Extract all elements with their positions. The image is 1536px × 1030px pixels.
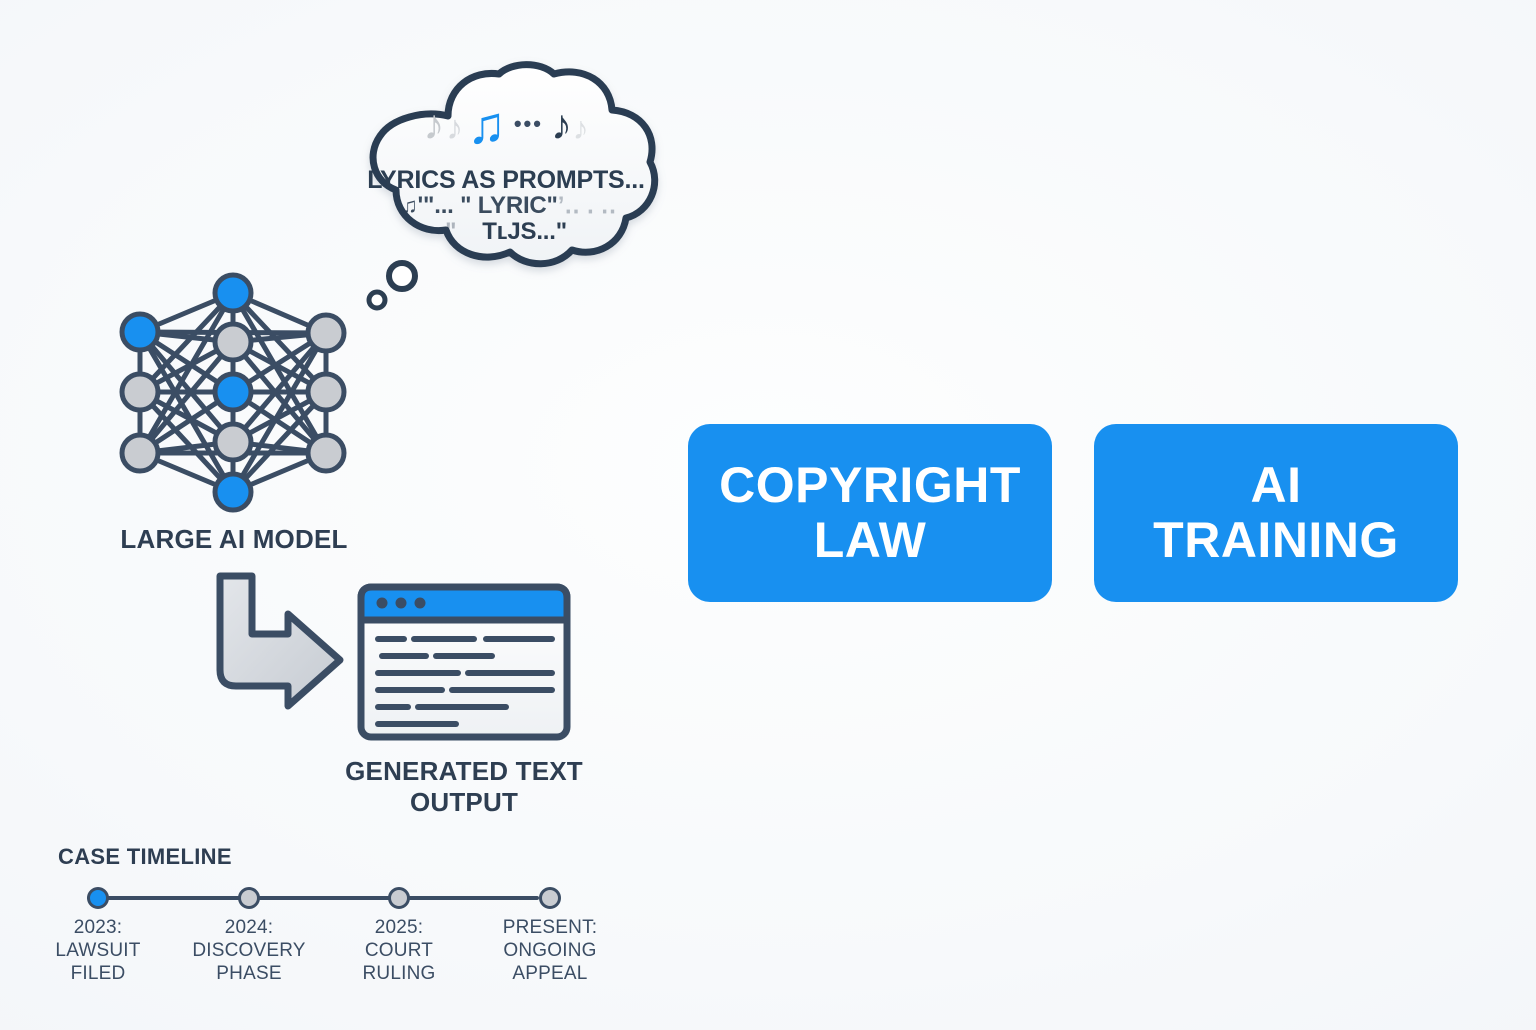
music-note-beamed-icon: ♫ (467, 97, 506, 155)
timeline-label-present-l2: ONGOING (480, 939, 620, 962)
thought-trail-bubbles (350, 258, 430, 328)
node-right-top (308, 315, 344, 351)
window-dots (377, 598, 426, 609)
timeline-label-2024-l3: PHASE (179, 962, 319, 985)
node-top-center (215, 275, 251, 311)
timeline-dot-present[interactable] (539, 887, 561, 909)
music-note-icon: ♪ (551, 101, 572, 148)
cloud-line3-main: TʟJS..." (482, 218, 567, 245)
timeline-label-present-year: PRESENT: (480, 916, 620, 939)
neural-network-graph (108, 268, 358, 518)
cloud-text-line-2: '♫'"... " LYRIC"’․․ ․ ․․ (344, 194, 668, 218)
timeline-label-2024-year: 2024: (179, 916, 319, 939)
thought-cloud: ♪ ♪ ♫ ••• ♪ ♪ LYRICS AS PROMPTS... '♫'".… (344, 64, 668, 272)
timeline-dot-2025[interactable] (388, 887, 410, 909)
ellipsis-dots-icon: ••• (514, 111, 543, 136)
node-left-top (122, 314, 158, 350)
elbow-arrow-icon (196, 560, 356, 720)
ai-training-line-1: AI (1153, 458, 1399, 513)
infographic-canvas: ♪ ♪ ♫ ••• ♪ ♪ LYRICS AS PROMPTS... '♫'".… (0, 0, 1536, 1030)
neural-network-diagram (108, 268, 358, 518)
timeline-label-2024-l2: DISCOVERY (179, 939, 319, 962)
music-note-icon: ♪ (446, 109, 463, 147)
timeline-label-2023-year: 2023: (28, 916, 168, 939)
timeline-label-2025-year: 2025: (329, 916, 469, 939)
cloud-line3-prefix: " (445, 218, 456, 245)
cloud-line2-ghost: ’․․ ․ ․․ (558, 192, 617, 219)
case-timeline-title: CASE TIMELINE (58, 844, 232, 870)
cloud-text-line-1: LYRICS AS PROMPTS... (344, 168, 668, 193)
timeline-track (87, 896, 539, 900)
timeline-dot-2024[interactable] (238, 887, 260, 909)
music-notes-row: ♪ ♪ ♫ ••• ♪ ♪ (344, 96, 668, 148)
node-left-bottom (122, 435, 158, 471)
timeline-label-2025: 2025: COURT RULING (329, 916, 469, 986)
node-right-bottom (308, 435, 344, 471)
music-note-icon: ♪ (423, 101, 444, 148)
music-note-inline-icon: ♫ (401, 193, 417, 218)
node-bottom-center (215, 474, 251, 510)
copyright-law-button[interactable]: COPYRIGHT LAW (688, 424, 1052, 602)
ai-training-button[interactable]: AI TRAINING (1094, 424, 1458, 602)
cloud-text-line-3: "TʟJS..." (344, 220, 668, 244)
timeline-label-present-l3: APPEAL (480, 962, 620, 985)
node-center-lower (215, 424, 251, 460)
copyright-law-line-1: COPYRIGHT (719, 458, 1021, 513)
browser-window-icon (356, 582, 572, 742)
output-label-line-1: GENERATED TEXT (318, 756, 610, 787)
node-center-upper (215, 324, 251, 360)
node-left-mid (122, 374, 158, 410)
generated-text-output-label: GENERATED TEXT OUTPUT (318, 756, 610, 817)
ai-training-line-2: TRAINING (1153, 513, 1399, 568)
cloud-line2-prefix: ' (396, 192, 402, 219)
case-timeline: CASE TIMELINE 2023: LAWSUIT FILED 2024: … (56, 844, 616, 994)
copyright-law-line-2: LAW (719, 513, 1021, 568)
music-note-icon: ♪ (573, 110, 589, 146)
timeline-label-2025-l2: COURT (329, 939, 469, 962)
timeline-label-2025-l3: RULING (329, 962, 469, 985)
window-title-bar (361, 587, 567, 620)
generated-text-window (356, 582, 572, 742)
node-right-mid (308, 374, 344, 410)
cloud-line2-main: '"... " LYRIC" (418, 192, 558, 219)
flow-arrow (196, 560, 356, 720)
timeline-dot-2023[interactable] (87, 887, 109, 909)
timeline-label-2024: 2024: DISCOVERY PHASE (179, 916, 319, 986)
network-nodes (122, 275, 344, 510)
timeline-label-2023-l2: LAWSUIT (28, 939, 168, 962)
neural-network-label: LARGE AI MODEL (104, 524, 364, 555)
node-center-mid (215, 374, 251, 410)
timeline-label-present: PRESENT: ONGOING APPEAL (480, 916, 620, 986)
timeline-label-2023-l3: FILED (28, 962, 168, 985)
timeline-label-2023: 2023: LAWSUIT FILED (28, 916, 168, 986)
output-label-line-2: OUTPUT (318, 787, 610, 818)
